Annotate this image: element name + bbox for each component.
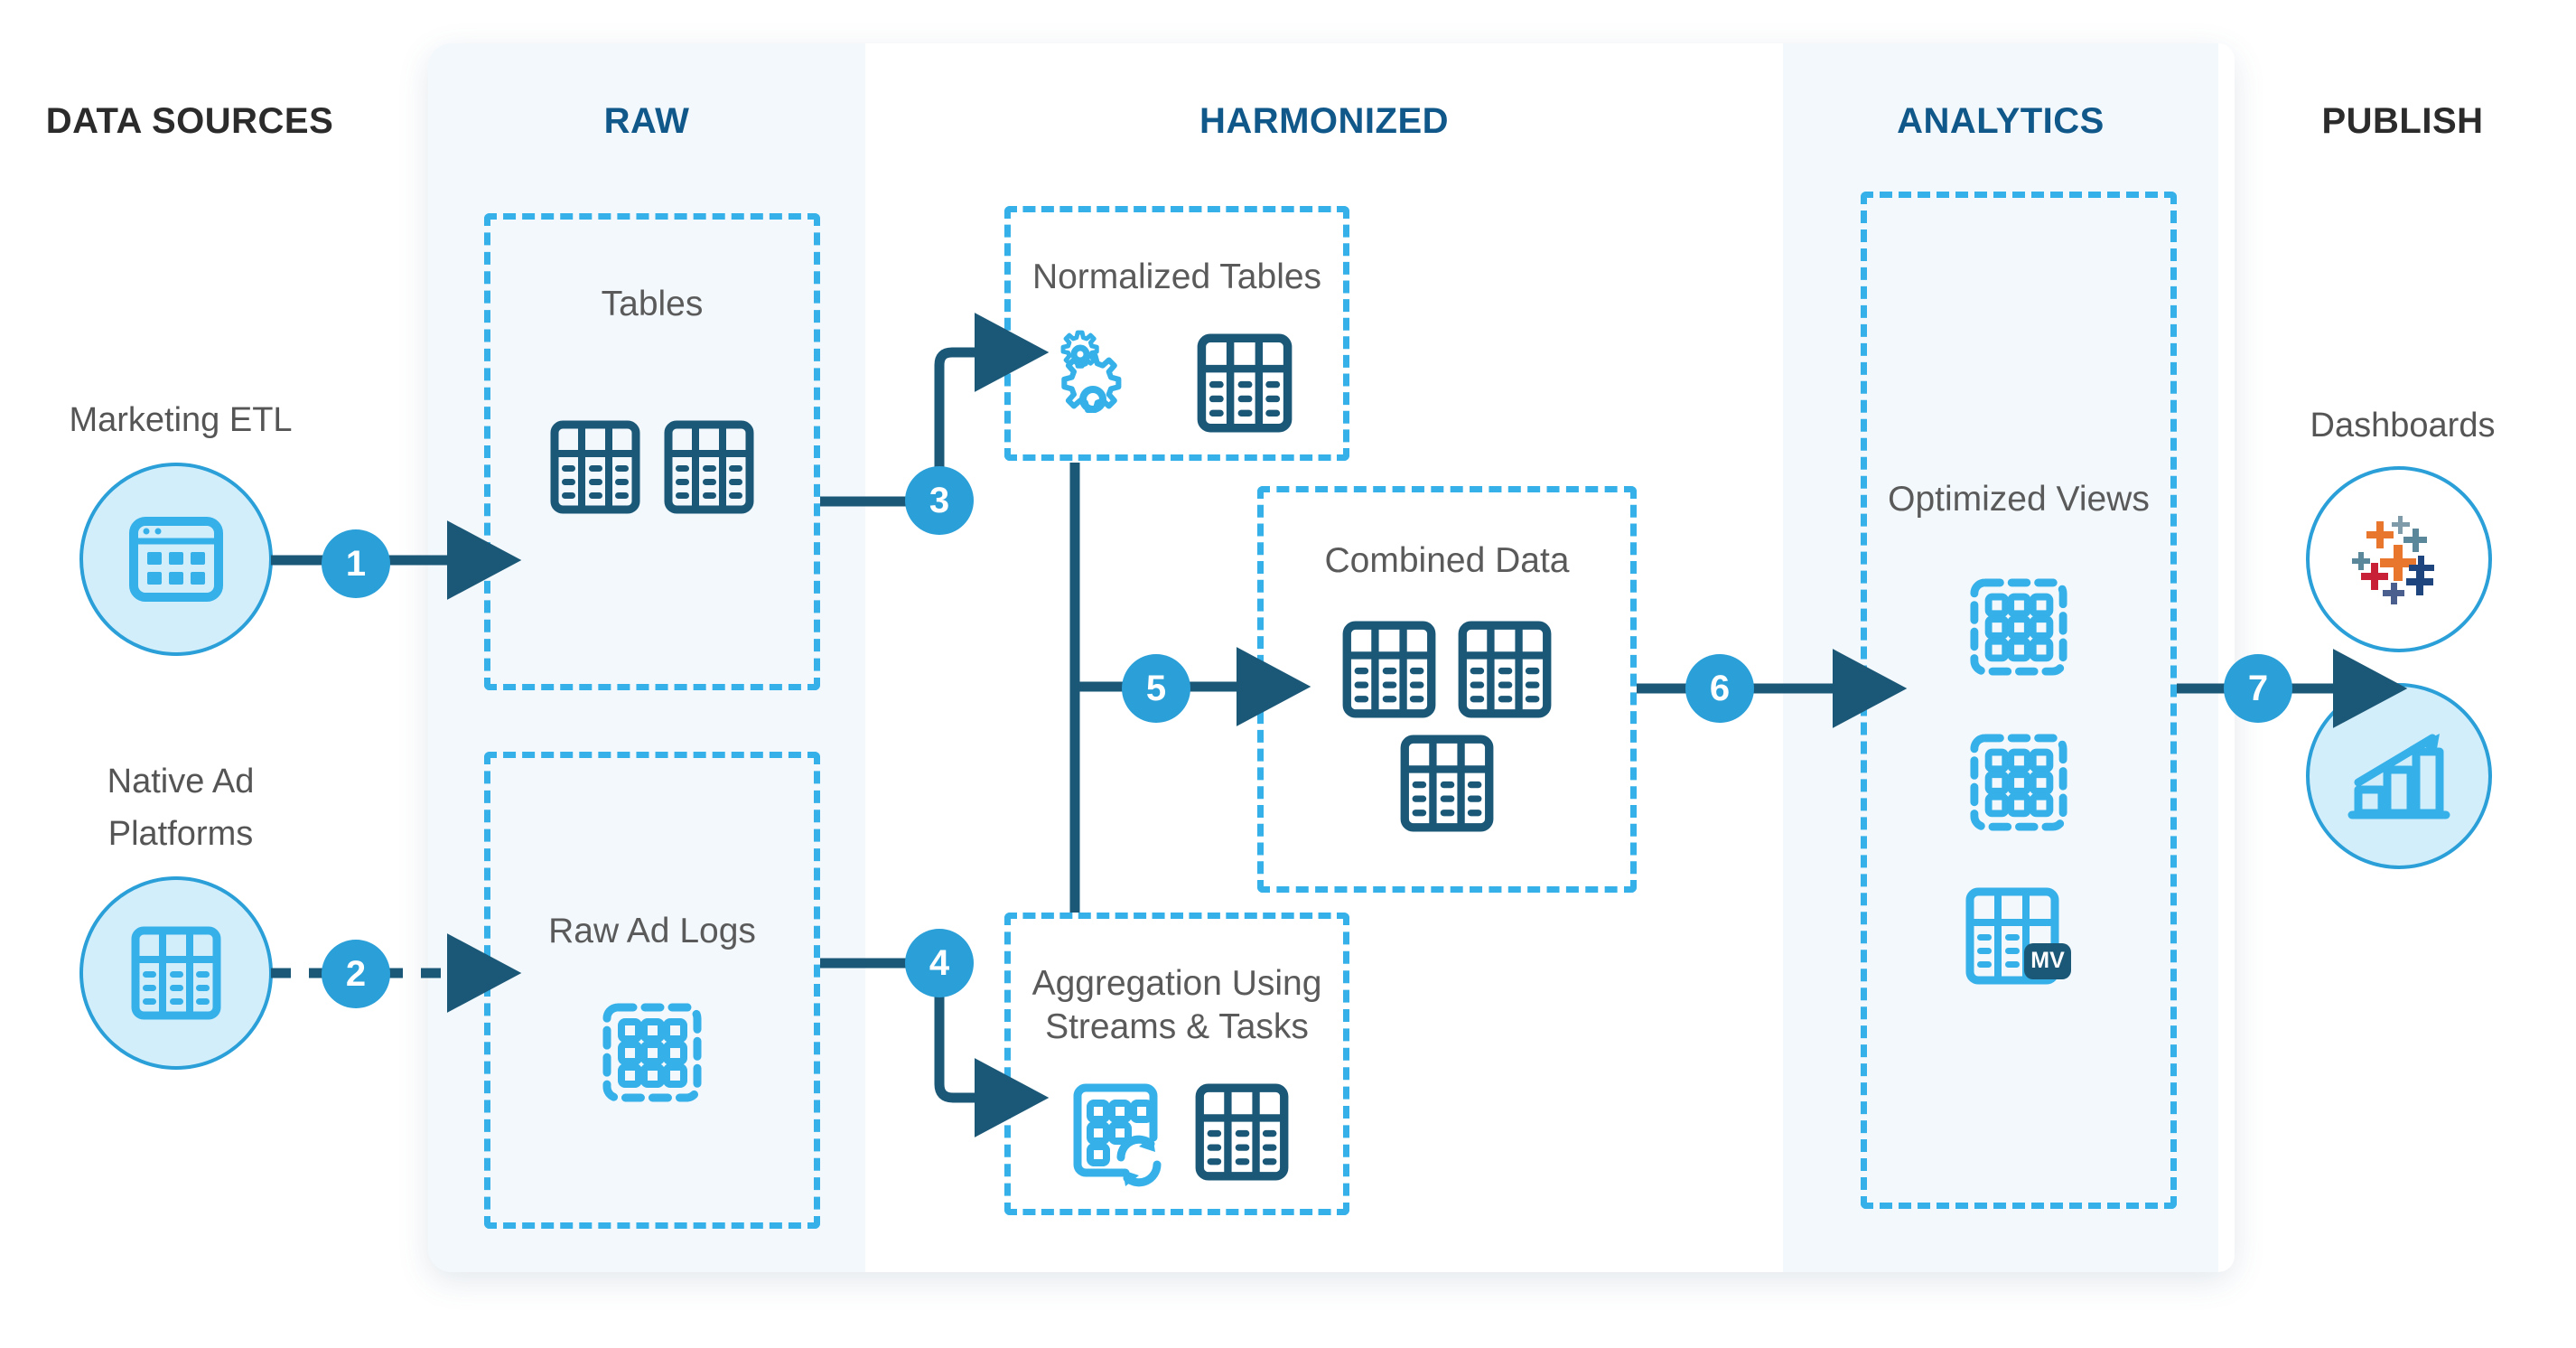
stage-box-combined-data[interactable]: Combined Data xyxy=(1257,486,1637,893)
source-label-native-ad-line1: Native Ad xyxy=(0,759,361,804)
table-icon xyxy=(131,926,221,1020)
stage-box-tables[interactable]: Tables xyxy=(484,213,820,690)
step-badge-4[interactable]: 4 xyxy=(905,929,974,997)
stage-title-tables: Tables xyxy=(490,283,814,326)
grid-refresh-icon xyxy=(1065,1081,1170,1183)
publish-circle-bar-chart[interactable] xyxy=(2306,683,2492,869)
stage-box-aggregation[interactable]: Aggregation Using Streams & Tasks xyxy=(1004,913,1349,1215)
source-label-native-ad-line2: Platforms xyxy=(0,811,361,857)
publish-label-dashboards: Dashboards xyxy=(2249,403,2556,448)
column-heading-analytics: ANALYTICS xyxy=(1783,101,2218,142)
column-heading-publish: PUBLISH xyxy=(2249,101,2556,142)
stage-title-normalized-tables: Normalized Tables xyxy=(1011,256,1343,299)
table-icon xyxy=(550,420,640,514)
stage-box-optimized-views[interactable]: Optimized Views xyxy=(1861,192,2177,1209)
source-circle-native-ad-platforms[interactable] xyxy=(79,876,273,1070)
dashed-grid-icon xyxy=(1969,577,2068,677)
column-heading-data-sources: DATA SOURCES xyxy=(0,101,379,142)
panel-right-edge xyxy=(2218,43,2235,1272)
browser-window-grid-icon xyxy=(128,516,224,603)
dashed-grid-icon xyxy=(602,1002,703,1103)
diagram-canvas: DATA SOURCES RAW HARMONIZED ANALYTICS PU… xyxy=(0,0,2576,1348)
stage-title-raw-ad-logs: Raw Ad Logs xyxy=(490,910,814,953)
column-heading-raw: RAW xyxy=(428,101,865,142)
table-icon xyxy=(1197,333,1293,433)
stage-title-combined-data: Combined Data xyxy=(1264,539,1630,583)
source-circle-marketing-etl[interactable] xyxy=(79,463,273,656)
step-badge-1[interactable]: 1 xyxy=(322,529,390,598)
stage-title-optimized-views: Optimized Views xyxy=(1867,478,2170,521)
bar-chart-growth-icon xyxy=(2346,726,2452,826)
publish-circle-tableau[interactable] xyxy=(2306,466,2492,652)
stage-box-raw-ad-logs[interactable]: Raw Ad Logs xyxy=(484,752,820,1229)
tableau-logo-icon xyxy=(2346,509,2452,610)
step-badge-7[interactable]: 7 xyxy=(2224,654,2292,723)
stage-box-normalized-tables[interactable]: Normalized Tables xyxy=(1004,206,1349,461)
stage-title-aggregation-line1: Aggregation Using xyxy=(1011,962,1343,1006)
stage-title-aggregation-line2: Streams & Tasks xyxy=(1011,1006,1343,1049)
step-badge-5[interactable]: 5 xyxy=(1122,654,1190,723)
mv-badge-label: MV xyxy=(2030,948,2065,973)
table-icon xyxy=(1342,621,1436,718)
table-icon xyxy=(1458,621,1552,718)
step-badge-6[interactable]: 6 xyxy=(1685,654,1754,723)
gears-icon xyxy=(1061,338,1159,428)
dashed-grid-icon xyxy=(1969,733,2068,832)
table-icon xyxy=(1400,735,1494,832)
table-icon xyxy=(1195,1083,1289,1181)
step-badge-2[interactable]: 2 xyxy=(322,940,390,1008)
column-heading-harmonized: HARMONIZED xyxy=(865,101,1783,142)
table-icon xyxy=(664,420,754,514)
step-badge-3[interactable]: 3 xyxy=(905,466,974,535)
source-label-marketing-etl: Marketing ETL xyxy=(0,398,361,443)
materialized-view-icon: MV xyxy=(1965,886,2073,993)
